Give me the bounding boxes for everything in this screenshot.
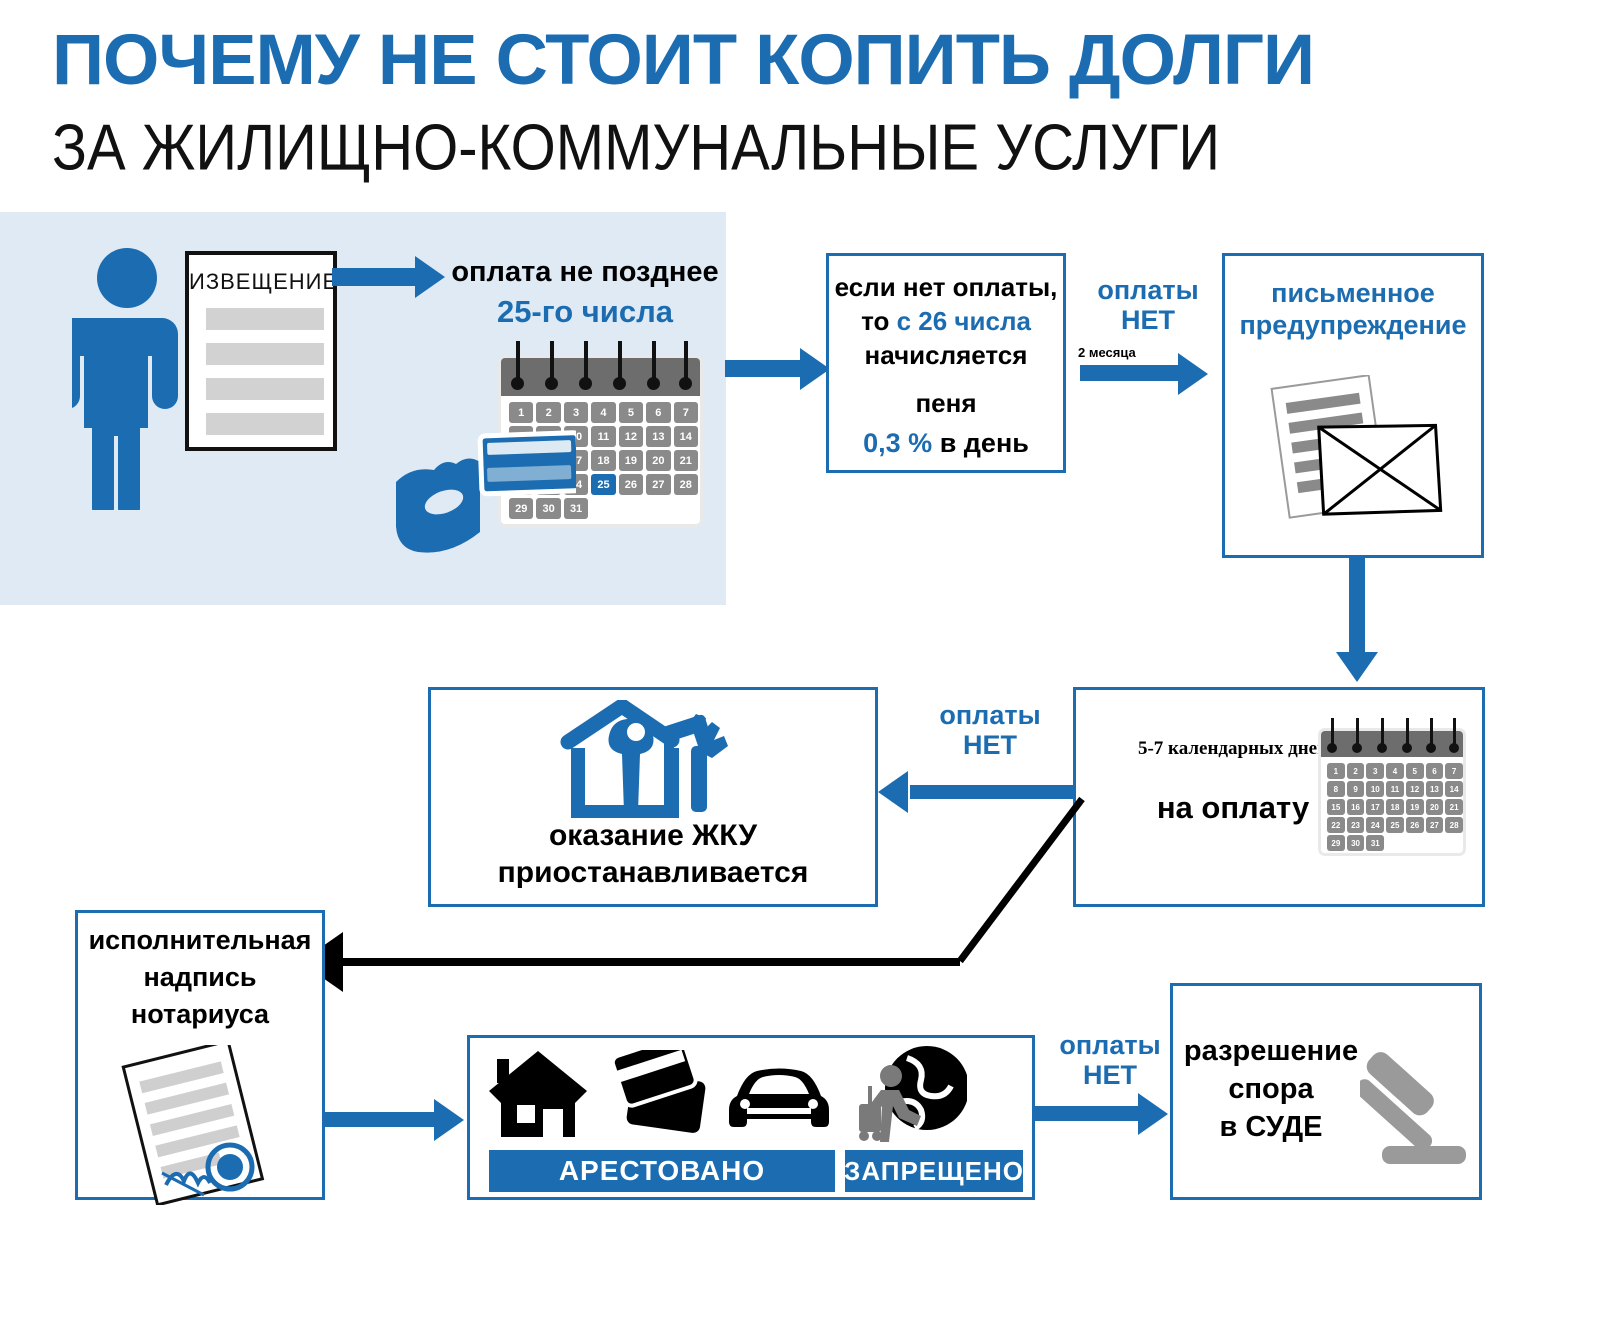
arrow-step1-to-step2-line — [725, 360, 803, 377]
calendar-day-cell-empty — [674, 498, 698, 519]
written-warning-line1: письменное — [1222, 278, 1484, 310]
hand-with-card-icon — [396, 424, 576, 554]
calendar-day-cell: 18 — [1386, 799, 1404, 815]
calendar-day-cell: 5 — [619, 402, 643, 423]
calendar-day-cell: 4 — [591, 402, 615, 423]
calendar-day-cell: 5 — [1406, 763, 1424, 779]
calendar-day-cell: 8 — [1327, 781, 1345, 797]
calendar-day-cell: 14 — [1445, 781, 1463, 797]
calendar-day-cell: 9 — [1347, 781, 1365, 797]
infographic-root: ПОЧЕМУ НЕ СТОИТ КОПИТЬ ДОЛГИ ЗА ЖИЛИЩНО-… — [0, 0, 1614, 1325]
calendar-day-cell: 26 — [619, 474, 643, 495]
calendar-day-cell: 12 — [1406, 781, 1424, 797]
calendar-day-cell: 13 — [1426, 781, 1444, 797]
calendar-day-cell: 23 — [1347, 817, 1365, 833]
arrested-banner: АРЕСТОВАНО — [489, 1150, 835, 1192]
no-payment-court-label-2: НЕТ — [1040, 1060, 1180, 1092]
notice-line — [206, 343, 324, 365]
calendar-day-cell: 31 — [1366, 835, 1384, 851]
calendar-day-cell-empty — [619, 498, 643, 519]
no-payment-suspend-label-2: НЕТ — [920, 730, 1060, 762]
notary-document-seal-icon — [118, 1045, 278, 1205]
calendar-day-cell: 10 — [1366, 781, 1384, 797]
arrow-arrest-to-court-head — [1138, 1093, 1168, 1135]
penalty-line1: если нет оплаты, — [826, 272, 1066, 302]
calendar-day-cell: 15 — [1327, 799, 1345, 815]
penalty-rate-unit: в день — [940, 428, 1029, 458]
notary-line1: исполнительная — [75, 925, 325, 957]
notary-line2: надпись — [75, 962, 325, 994]
house-icon — [487, 1047, 589, 1139]
no-payment-warning-label-1: оплаты — [1078, 275, 1218, 307]
calendar-day-cell-empty — [646, 498, 670, 519]
calendar-day-cell-empty — [1426, 835, 1444, 851]
calendar-day-cell-empty — [591, 498, 615, 519]
bank-cards-icon — [607, 1050, 713, 1140]
penalty-line3: начисляется — [826, 340, 1066, 370]
calendar-day-cell: 26 — [1406, 817, 1424, 833]
calendar-day-cell: 18 — [591, 450, 615, 471]
arrow-notice-to-deadline-line — [332, 268, 417, 286]
calendar-day-cell: 27 — [646, 474, 670, 495]
calendar-day-cell: 20 — [1426, 799, 1444, 815]
calendar-day-cell: 4 — [1386, 763, 1404, 779]
court-line2: спора — [1176, 1073, 1366, 1107]
calendar-day-cell: 28 — [1445, 817, 1463, 833]
penalty-line2: то с 26 числа — [826, 306, 1066, 336]
calendar-day-cell: 14 — [674, 426, 698, 447]
deadline-line1: оплата не позднее — [440, 256, 730, 290]
notary-line3: нотариуса — [75, 999, 325, 1031]
arrow-arrest-to-court-line — [1035, 1106, 1140, 1121]
notice-document-icon: ИЗВЕЩЕНИЕ — [185, 251, 337, 451]
calendar-day-cell: 16 — [1347, 799, 1365, 815]
arrow-step2-to-step3-head — [1178, 353, 1208, 395]
penalty-line5: 0,3 % в день — [826, 428, 1066, 460]
calendar-day-cell: 25 — [1386, 817, 1404, 833]
court-line3: в СУДЕ — [1176, 1111, 1366, 1145]
calendar-day-cell: 3 — [1366, 763, 1384, 779]
arrow-notary-to-arrest-line — [325, 1112, 437, 1127]
calendar-day-cell: 3 — [564, 402, 588, 423]
calendar-day-cell: 11 — [1386, 781, 1404, 797]
calendar-day-cell: 1 — [1327, 763, 1345, 779]
notice-label: ИЗВЕЩЕНИЕ — [189, 269, 333, 295]
calendar-day-cell: 2 — [536, 402, 560, 423]
calendar-day-cell: 19 — [619, 450, 643, 471]
arrow-to-notary-line — [330, 958, 960, 966]
calendar-day-cell-empty — [1386, 835, 1404, 851]
calendar-day-cell: 7 — [1445, 763, 1463, 779]
calendar-day-cell: 30 — [1347, 835, 1365, 851]
notice-line — [206, 308, 324, 330]
deadline-line2: 25-го числа — [440, 294, 730, 330]
house-with-tools-icon — [560, 700, 745, 818]
arrow-step3-to-step4-head — [1336, 652, 1378, 682]
services-suspended-line1: оказание ЖКУ — [428, 818, 878, 853]
arrow-step2-to-step3-line — [1080, 365, 1180, 381]
page-title-main: ПОЧЕМУ НЕ СТОИТ КОПИТЬ ДОЛГИ — [52, 20, 1314, 101]
calendar-day-cell: 28 — [674, 474, 698, 495]
calendar-day-cell: 29 — [1327, 835, 1345, 851]
calendar-day-cell: 2 — [1347, 763, 1365, 779]
penalty-rate: 0,3 % — [863, 428, 940, 458]
calendar-day-cell: 13 — [646, 426, 670, 447]
calendar-day-cell: 11 — [591, 426, 615, 447]
calendar-day-cell: 22 — [1327, 817, 1345, 833]
calendar-day-cell: 27 — [1426, 817, 1444, 833]
services-suspended-line2: приостанавливается — [428, 855, 878, 890]
notice-line — [206, 378, 324, 400]
calendar-day-cell: 12 — [619, 426, 643, 447]
arrow-to-notary-diagonal — [940, 795, 1090, 967]
traveler-globe-icon — [855, 1042, 967, 1142]
car-icon — [725, 1062, 833, 1138]
calendar-day-cell-empty — [1445, 835, 1463, 851]
gavel-icon — [1360, 1030, 1480, 1170]
no-payment-court-label-1: оплаты — [1040, 1030, 1180, 1062]
calendar-day-cell: 21 — [674, 450, 698, 471]
notice-line — [206, 413, 324, 435]
calendar-day-cell: 24 — [1366, 817, 1384, 833]
calendar-day-cell: 21 — [1445, 799, 1463, 815]
court-line1: разрешение — [1176, 1035, 1366, 1069]
envelope-letter-icon — [1262, 375, 1462, 540]
no-payment-suspend-label-1: оплаты — [920, 700, 1060, 732]
calendar-day-cell: 6 — [1426, 763, 1444, 779]
calendar-day-cell: 6 — [646, 402, 670, 423]
arrow-step4-to-step5-head — [878, 771, 908, 813]
arrow-notary-to-arrest-head — [434, 1099, 464, 1141]
calendar-day-cell-empty — [1406, 835, 1424, 851]
person-icon — [72, 248, 182, 510]
calendar-day-cell: 7 — [674, 402, 698, 423]
calendar-day-cell: 1 — [509, 402, 533, 423]
page-title-sub: ЗА ЖИЛИЩНО-КОММУНАЛЬНЫЕ УСЛУГИ — [52, 110, 1220, 185]
calendar-day-cell: 19 — [1406, 799, 1424, 815]
calendar-day-cell: 17 — [1366, 799, 1384, 815]
calendar-day-cell: 20 — [646, 450, 670, 471]
no-payment-warning-label-2: НЕТ — [1078, 305, 1218, 337]
written-warning-line2: предупреждение — [1222, 310, 1484, 342]
calendar-day-cell: 25 — [591, 474, 615, 495]
calendar-icon: 1234567891011121314151617181920212223242… — [1318, 728, 1466, 856]
penalty-line2-date: с 26 числа — [897, 306, 1031, 336]
penalty-line4: пеня — [826, 388, 1066, 418]
arrow-step3-to-step4-line — [1349, 558, 1365, 658]
penalty-line2-prefix: то — [861, 306, 897, 336]
forbidden-banner: ЗАПРЕЩЕНО — [845, 1150, 1023, 1192]
